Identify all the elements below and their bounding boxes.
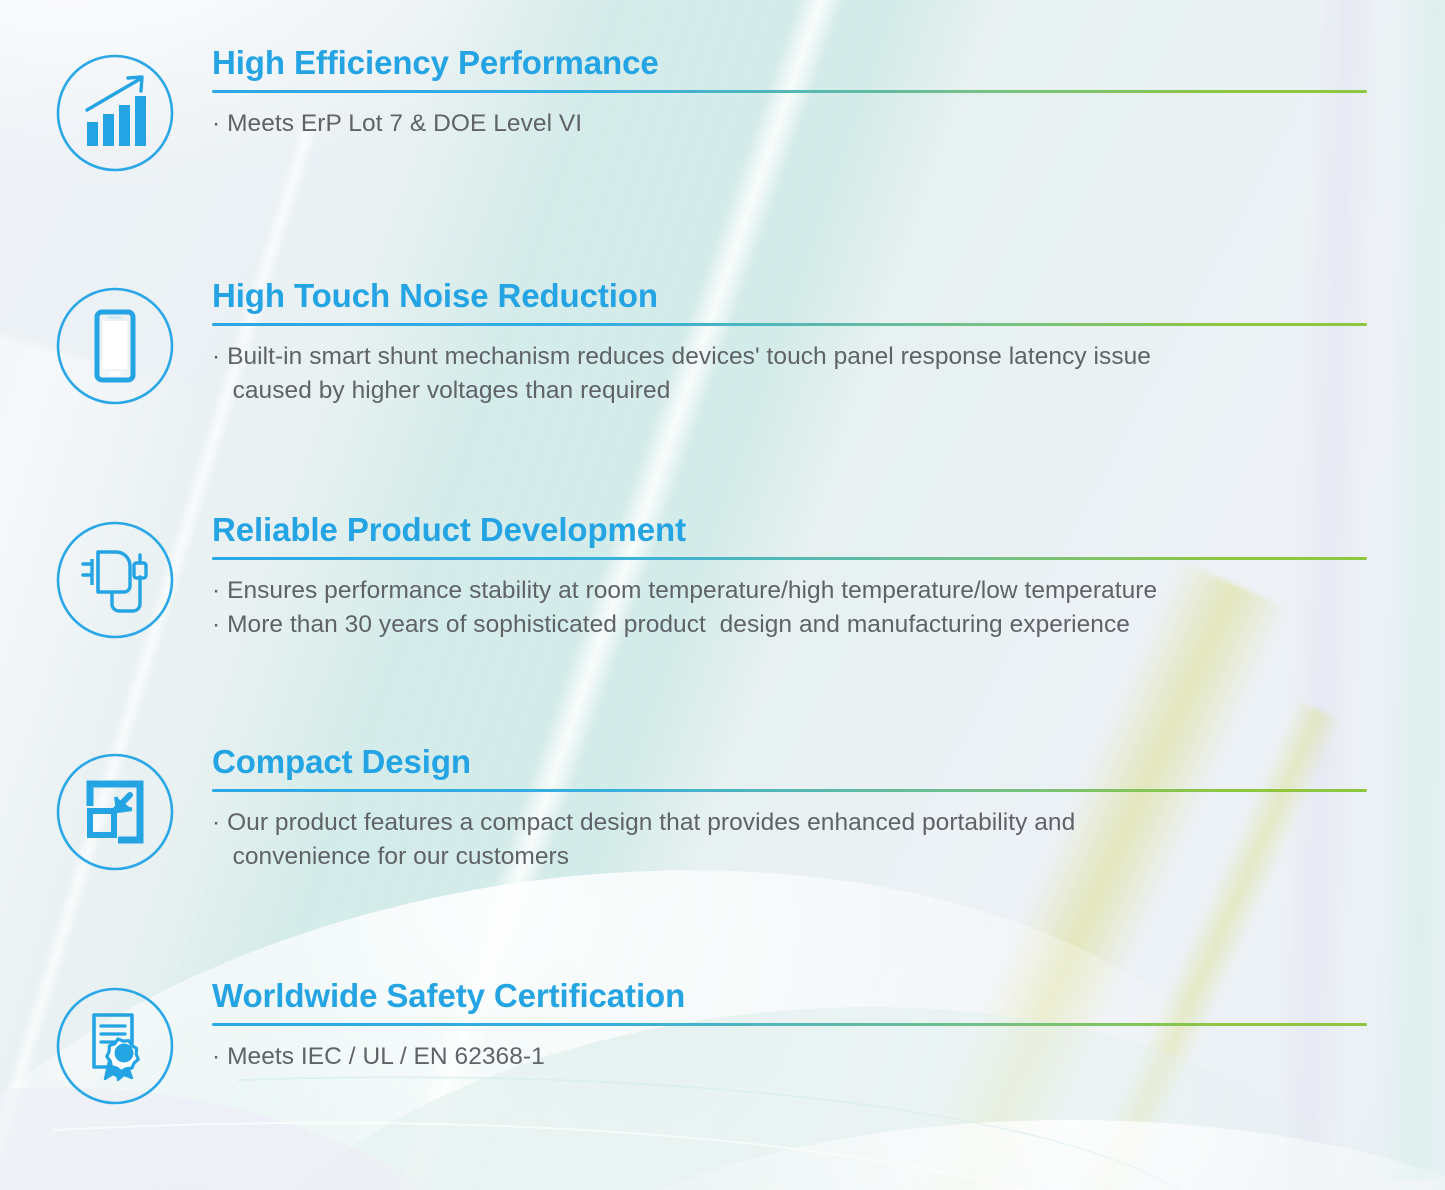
feature-icon-slot — [50, 979, 180, 1107]
certificate-seal-icon — [54, 985, 176, 1107]
feature-divider — [212, 789, 1367, 792]
compact-resize-icon — [54, 751, 176, 873]
feature-divider — [212, 557, 1367, 560]
smartphone-icon — [54, 285, 176, 407]
feature-bullet: · Ensures performance stability at room … — [212, 574, 1340, 609]
feature-bullet: · Meets IEC / UL / EN 62368-1 — [212, 1040, 1340, 1075]
feature-bullets: · Our product features a compact design … — [212, 806, 1340, 876]
bar-chart-growth-icon — [54, 52, 176, 174]
feature-bullet: · Meets ErP Lot 7 & DOE Level VI — [212, 107, 1340, 142]
feature-divider — [212, 90, 1367, 93]
feature-title: Worldwide Safety Certification — [212, 979, 1340, 1014]
feature-bullets: · Meets IEC / UL / EN 62368-1 — [212, 1040, 1340, 1075]
feature-bullet: · More than 30 years of sophisticated pr… — [212, 608, 1340, 643]
feature-bullets: · Meets ErP Lot 7 & DOE Level VI — [212, 107, 1340, 142]
feature-item: High Efficiency Performance · Meets ErP … — [50, 46, 1340, 174]
feature-title: High Touch Noise Reduction — [212, 279, 1340, 314]
feature-text: High Touch Noise Reduction · Built-in sm… — [180, 279, 1340, 409]
feature-title: Compact Design — [212, 745, 1340, 780]
feature-icon-slot — [50, 279, 180, 407]
feature-list: High Efficiency Performance · Meets ErP … — [0, 0, 1445, 1190]
feature-bullets: · Ensures performance stability at room … — [212, 574, 1340, 644]
feature-item: Worldwide Safety Certification · Meets I… — [50, 979, 1340, 1107]
feature-item: High Touch Noise Reduction · Built-in sm… — [50, 279, 1340, 409]
feature-bullets: · Built-in smart shunt mechanism reduces… — [212, 340, 1340, 410]
feature-icon-slot — [50, 46, 180, 174]
feature-divider — [212, 1023, 1367, 1026]
feature-icon-slot — [50, 513, 180, 641]
feature-icon-slot — [50, 745, 180, 873]
feature-text: High Efficiency Performance · Meets ErP … — [180, 46, 1340, 141]
feature-bullet: · Our product features a compact design … — [212, 806, 1340, 876]
feature-bullet: · Built-in smart shunt mechanism reduces… — [212, 340, 1340, 410]
feature-text: Compact Design · Our product features a … — [180, 745, 1340, 875]
feature-divider — [212, 323, 1367, 326]
power-adapter-icon — [54, 519, 176, 641]
feature-text: Reliable Product Development · Ensures p… — [180, 513, 1340, 643]
feature-text: Worldwide Safety Certification · Meets I… — [180, 979, 1340, 1074]
feature-item: Reliable Product Development · Ensures p… — [50, 513, 1340, 643]
feature-highlights-page: High Efficiency Performance · Meets ErP … — [0, 0, 1445, 1190]
feature-item: Compact Design · Our product features a … — [50, 745, 1340, 875]
feature-title: High Efficiency Performance — [212, 46, 1340, 81]
feature-title: Reliable Product Development — [212, 513, 1340, 548]
